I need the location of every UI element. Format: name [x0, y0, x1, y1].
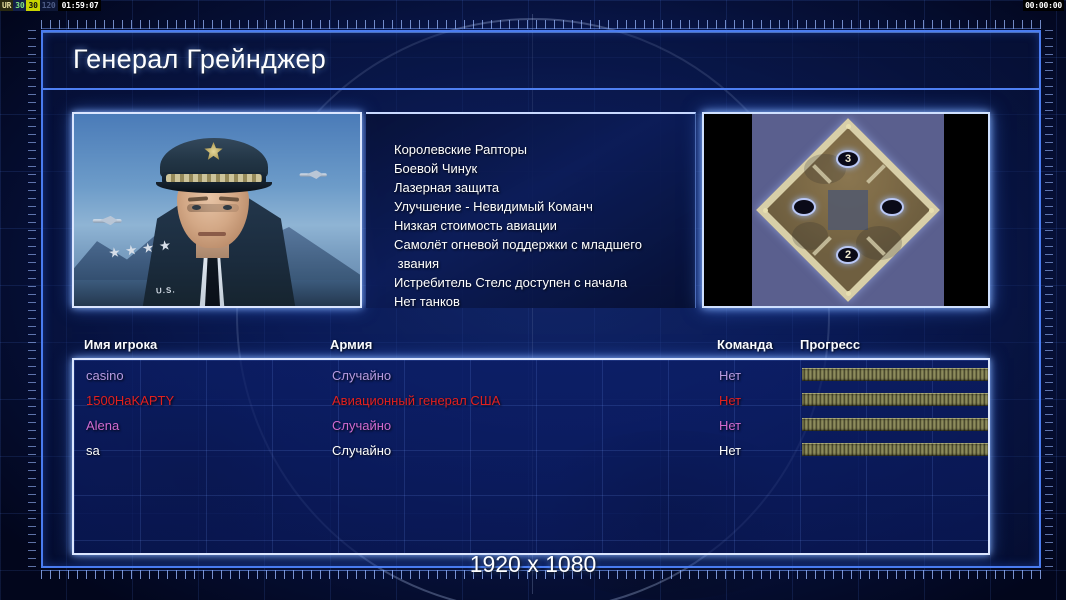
- overlay-clock: 00:00:00: [1023, 0, 1064, 11]
- ability-line: Королевские Рапторы: [394, 140, 687, 159]
- title-bar: Генерал Грейнджер: [43, 32, 1039, 90]
- minimap-spawn-point[interactable]: [792, 198, 816, 216]
- player-team: Нет: [719, 368, 741, 383]
- ability-line: Боевой Чинук: [394, 159, 687, 178]
- ability-line: Улучшение - Невидимый Команч: [394, 197, 687, 216]
- jet-icon: [300, 169, 329, 182]
- player-table-header: Имя игрока Армия Команда Прогресс: [72, 337, 990, 359]
- debug-overlay-bar: UR303012001:59:07 00:00:00: [0, 0, 1066, 11]
- ability-line: Истребитель Стелс доступен с начала: [394, 273, 687, 292]
- page-title: Генерал Грейнджер: [73, 44, 326, 75]
- ability-line: Нет танков: [394, 292, 687, 311]
- minimap-corner-marker: [763, 208, 768, 213]
- player-name: 1500HaKAPTY: [86, 393, 174, 408]
- player-name: sa: [86, 443, 100, 458]
- player-team: Нет: [719, 418, 741, 433]
- column-header-player-name: Имя игрока: [84, 337, 157, 352]
- loading-screen: UR303012001:59:07 00:00:00 Генерал Грейн…: [0, 0, 1066, 600]
- minimap-terrain: 3 2: [752, 114, 944, 306]
- minimap-center-plateau: [828, 190, 868, 230]
- table-row: sa Случайно Нет: [74, 439, 988, 464]
- portrait-eye-right: [223, 205, 232, 210]
- player-progress-bar: [802, 443, 990, 456]
- minimap-corner-marker: [929, 208, 934, 213]
- table-row: 1500HaKAPTY Авиационный генерал США Нет: [74, 389, 988, 414]
- column-header-progress: Прогресс: [800, 337, 860, 352]
- title-hairline: [43, 32, 1039, 33]
- player-team: Нет: [719, 393, 741, 408]
- ability-line: Лазерная защита: [394, 178, 687, 197]
- table-row: casino Случайно Нет: [74, 364, 988, 389]
- resolution-label: 1920 x 1080: [0, 551, 1066, 578]
- minimap-preview: 3 2: [702, 112, 990, 308]
- overlay-fps-target: 30: [26, 0, 39, 11]
- minimap-corner-marker: [846, 291, 851, 296]
- portrait-us-patch: U.S.: [156, 285, 176, 295]
- ruler-left: [28, 30, 36, 568]
- jet-icon: [93, 214, 124, 228]
- general-portrait: U.S.: [72, 112, 362, 308]
- table-row: Alena Случайно Нет: [74, 414, 988, 439]
- player-army: Случайно: [332, 418, 391, 433]
- overlay-elapsed-time: 01:59:07: [58, 0, 101, 11]
- ruler-top: [41, 20, 1041, 29]
- general-ability-list: Королевские Рапторы Боевой Чинук Лазерна…: [366, 112, 696, 308]
- player-army: Случайно: [332, 443, 391, 458]
- ability-line: Самолёт огневой поддержки с младшего: [394, 235, 687, 254]
- minimap-spawn-point[interactable]: 2: [836, 246, 860, 264]
- player-progress-bar: [802, 393, 990, 406]
- minimap-spawn-point[interactable]: [880, 198, 904, 216]
- player-army: Случайно: [332, 368, 391, 383]
- minimap-spawn-point[interactable]: 3: [836, 150, 860, 168]
- overlay-ur-label: UR: [0, 0, 13, 11]
- ability-line: звания: [394, 254, 687, 273]
- overlay-fps-now: 30: [13, 0, 26, 11]
- minimap-terrain-patch: [856, 226, 902, 260]
- player-progress-bar: [802, 368, 990, 381]
- portrait-mouth: [198, 232, 226, 236]
- player-army: Авиационный генерал США: [332, 393, 500, 408]
- ruler-right: [1045, 30, 1053, 568]
- column-header-team: Команда: [717, 337, 773, 352]
- ability-line: Низкая стоимость авиации: [394, 216, 687, 235]
- player-team: Нет: [719, 443, 741, 458]
- column-header-army: Армия: [330, 337, 372, 352]
- overlay-frame-budget: 120: [40, 0, 58, 11]
- portrait-eye-left: [192, 205, 201, 210]
- player-progress-bar: [802, 418, 990, 431]
- player-name: casino: [86, 368, 124, 383]
- player-table: casino Случайно Нет 1500HaKAPTY Авиацион…: [72, 358, 990, 555]
- minimap-corner-marker: [846, 124, 851, 129]
- player-name: Alena: [86, 418, 119, 433]
